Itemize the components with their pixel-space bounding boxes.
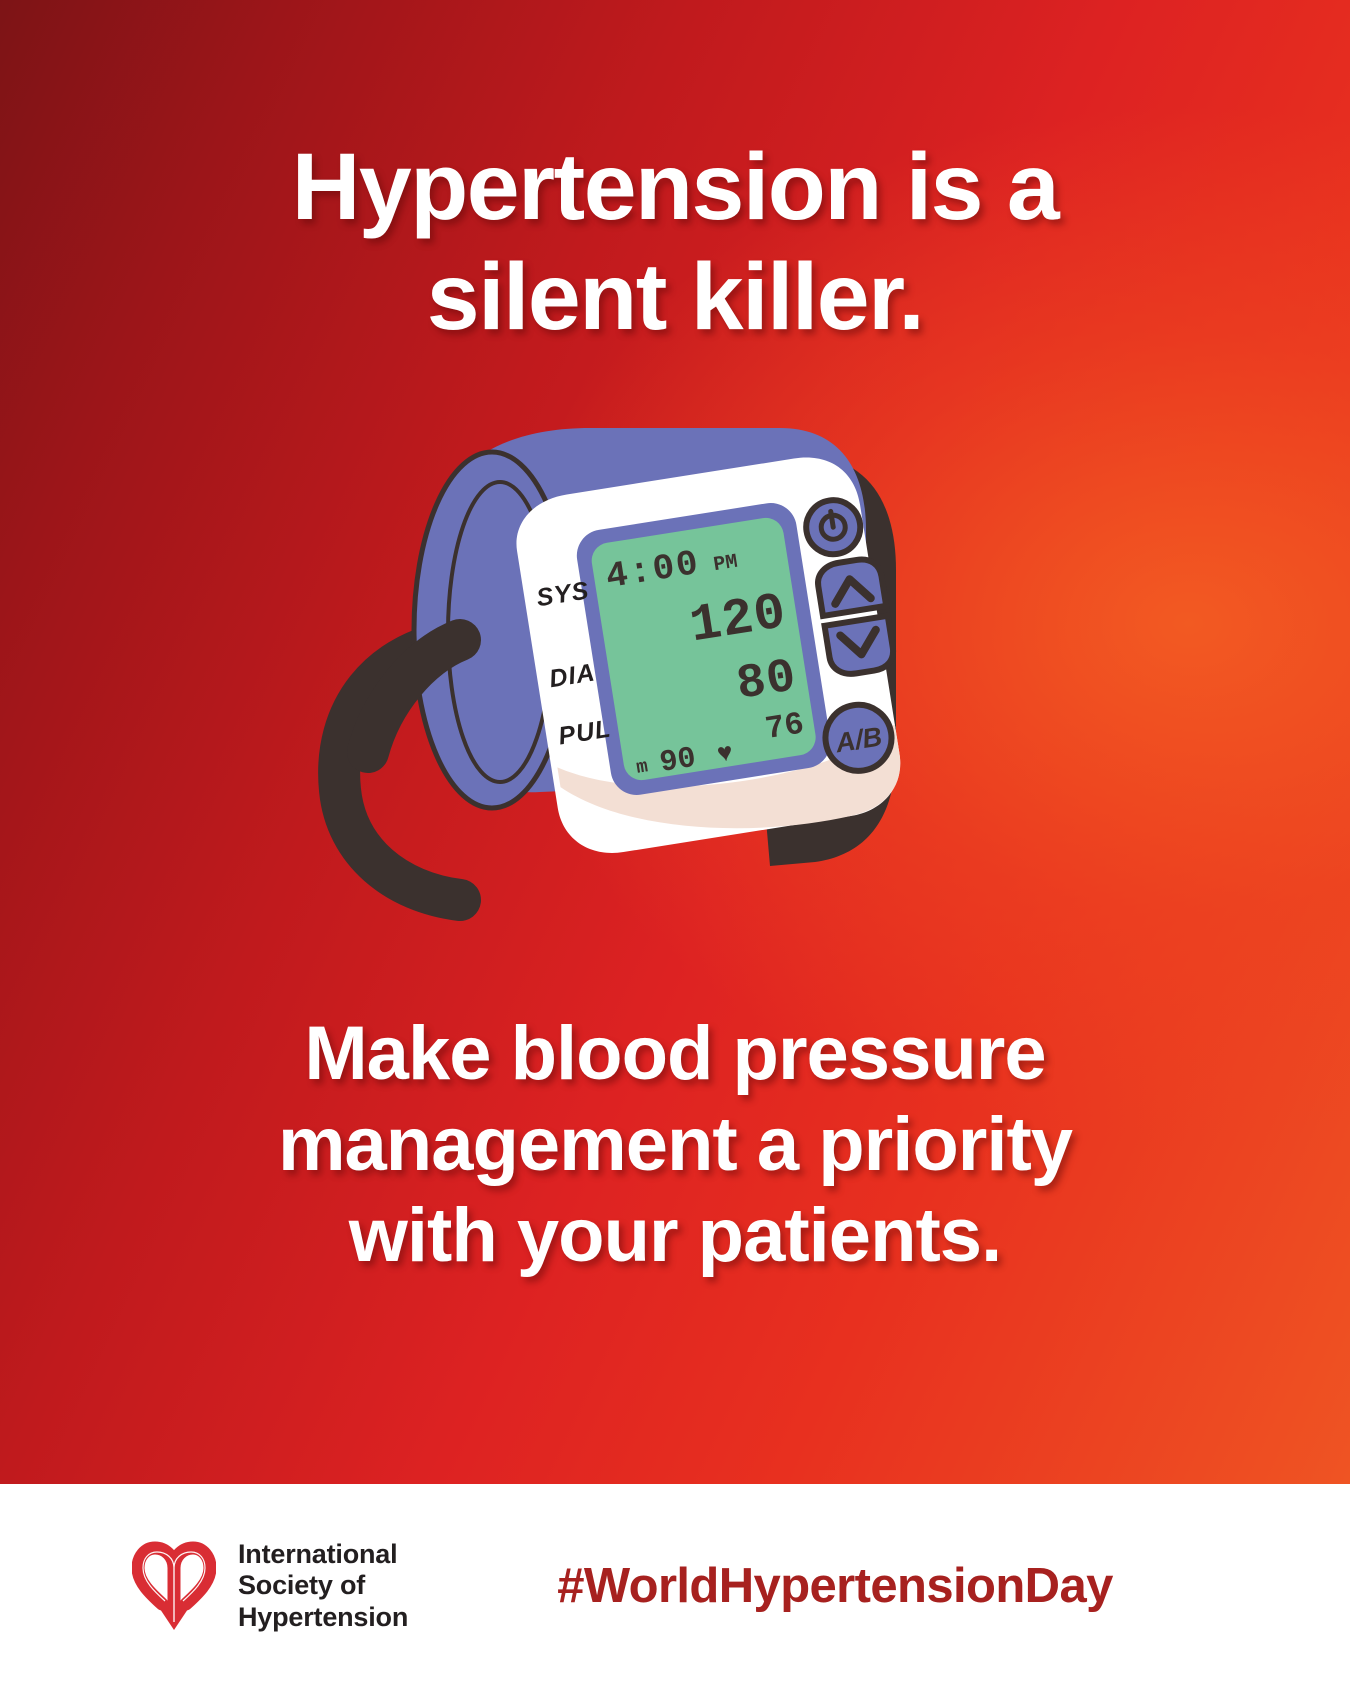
display-pulse: 76 bbox=[763, 705, 807, 748]
ish-logo-wordmark: International Society of Hypertension bbox=[238, 1539, 408, 1634]
poster-root: Hypertension is a silent killer. bbox=[0, 0, 1350, 1688]
up-button bbox=[815, 557, 886, 616]
poster-background: Hypertension is a silent killer. bbox=[0, 0, 1350, 1484]
footer-bar: International Society of Hypertension #W… bbox=[0, 1484, 1350, 1688]
submessage-line-1: Make blood pressure bbox=[0, 1008, 1350, 1099]
display-meridiem: PM bbox=[712, 551, 739, 577]
display-diastolic: 80 bbox=[733, 650, 800, 713]
submessage-line-2: management a priority bbox=[0, 1099, 1350, 1190]
display-memory-value: 90 bbox=[658, 742, 699, 781]
call-to-action-text: Make blood pressure management a priorit… bbox=[0, 1008, 1350, 1282]
power-icon-stem bbox=[831, 511, 834, 527]
blood-pressure-monitor-illustration: 4:00 PM 120 80 76 m 90 ♥ SYS DIA PUL bbox=[310, 400, 950, 940]
submessage-line-3: with your patients. bbox=[0, 1190, 1350, 1281]
logo-line-3: Hypertension bbox=[238, 1602, 408, 1634]
heart-logo-icon bbox=[132, 1538, 216, 1634]
headline-line-1: Hypertension is a bbox=[292, 134, 1058, 240]
ish-logo: International Society of Hypertension bbox=[132, 1538, 408, 1634]
down-button bbox=[825, 616, 896, 677]
page-title: Hypertension is a silent killer. bbox=[0, 132, 1350, 352]
headline-line-2: silent killer. bbox=[0, 242, 1350, 352]
hashtag-label: #WorldHypertensionDay bbox=[557, 1558, 1113, 1614]
logo-line-1: International bbox=[238, 1539, 408, 1571]
logo-line-2: Society of bbox=[238, 1570, 408, 1602]
